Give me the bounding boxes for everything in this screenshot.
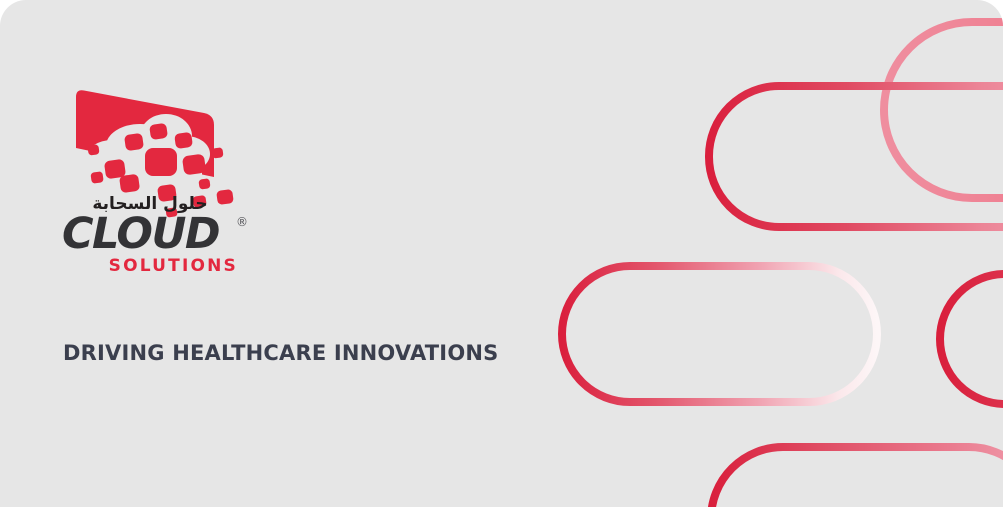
brand-banner: حلول السحابة CLOUD ® SOLUTIONS DRIVING H… bbox=[0, 0, 1003, 507]
pill-top-right-main bbox=[709, 86, 1003, 227]
logo-wordmark: حلول السحابة CLOUD ® SOLUTIONS bbox=[62, 196, 262, 275]
logo-cloud-text: CLOUD bbox=[62, 214, 219, 254]
pill-right-edge bbox=[940, 274, 1003, 404]
logo-solutions-text: SOLUTIONS bbox=[62, 258, 238, 275]
registered-trademark-icon: ® bbox=[236, 216, 248, 228]
pill-bottom-right bbox=[711, 447, 1003, 507]
logo: حلول السحابة CLOUD ® SOLUTIONS bbox=[62, 84, 262, 284]
logo-cloud-row: CLOUD ® bbox=[62, 214, 248, 254]
pill-top-right-upper bbox=[884, 22, 1003, 198]
pill-middle bbox=[562, 266, 877, 402]
tagline-heading: DRIVING HEALTHCARE INNOVATIONS bbox=[63, 341, 498, 365]
